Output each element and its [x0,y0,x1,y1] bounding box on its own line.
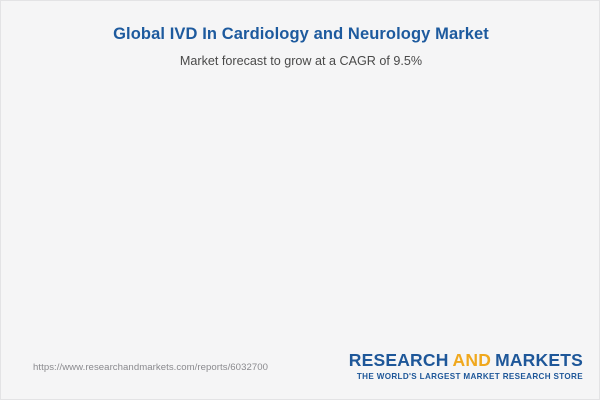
research-and-markets-logo[interactable]: RESEARCHANDMARKETS THE WORLD'S LARGEST M… [349,350,583,382]
logo-word-and: AND [449,350,496,370]
logo-word-research: RESEARCH [349,350,449,370]
logo-wordmark: RESEARCHANDMARKETS [349,350,583,370]
report-url[interactable]: https://www.researchandmarkets.com/repor… [33,362,268,373]
logo-word-markets: MARKETS [495,350,583,370]
market-infographic: Global IVD In Cardiology and Neurology M… [0,0,600,400]
footer: https://www.researchandmarkets.com/repor… [1,344,600,399]
chart-plot-area: USD 17.88 Billion 2023 USD 48.36 Billion… [1,1,600,346]
logo-tagline: THE WORLD'S LARGEST MARKET RESEARCH STOR… [349,372,583,382]
